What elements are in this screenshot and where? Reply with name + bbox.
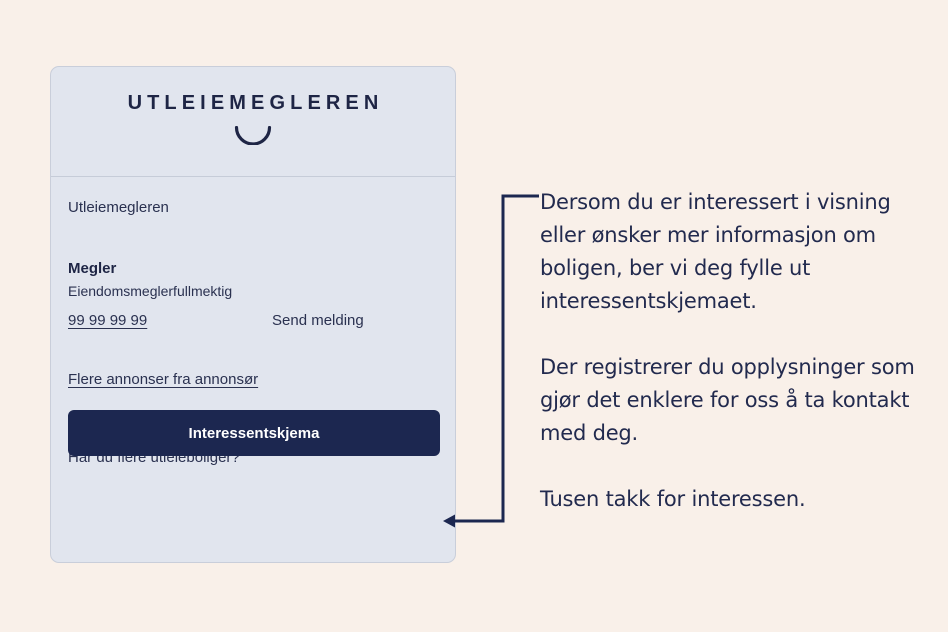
agent-job-title: Eiendomsmeglerfullmektig — [68, 282, 438, 301]
annotation-text-block: Dersom du er interessert i visning eller… — [540, 186, 915, 516]
agent-contact-card: UTLEIEMEGLEREN Utleiemegleren Megler Eie… — [50, 66, 456, 563]
agent-info-block: Megler Eiendomsmeglerfullmektig 99 99 99… — [68, 259, 438, 329]
annotation-paragraph-2: Der registrerer du opplysninger som gjør… — [540, 351, 915, 450]
card-body: Utleiemegleren Megler Eiendomsmeglerfull… — [51, 177, 455, 563]
brand-wordmark: UTLEIEMEGLEREN — [123, 93, 384, 113]
interessentskjema-button[interactable]: Interessentskjema — [68, 410, 440, 456]
annotation-paragraph-1: Dersom du er interessert i visning eller… — [540, 186, 915, 318]
annotation-paragraph-3: Tusen takk for interessen. — [540, 483, 915, 516]
more-listings-link[interactable]: Flere annonser fra annonsør — [68, 370, 438, 389]
phone-number-link[interactable]: 99 99 99 99 — [68, 312, 272, 329]
send-message-link[interactable]: Send melding — [272, 312, 364, 329]
organization-name: Utleiemegleren — [68, 197, 438, 217]
card-header: UTLEIEMEGLEREN — [51, 67, 455, 177]
agent-name: Megler — [68, 259, 438, 278]
agent-contact-row: 99 99 99 99 Send melding — [68, 312, 438, 329]
smile-arc-icon — [234, 126, 272, 145]
